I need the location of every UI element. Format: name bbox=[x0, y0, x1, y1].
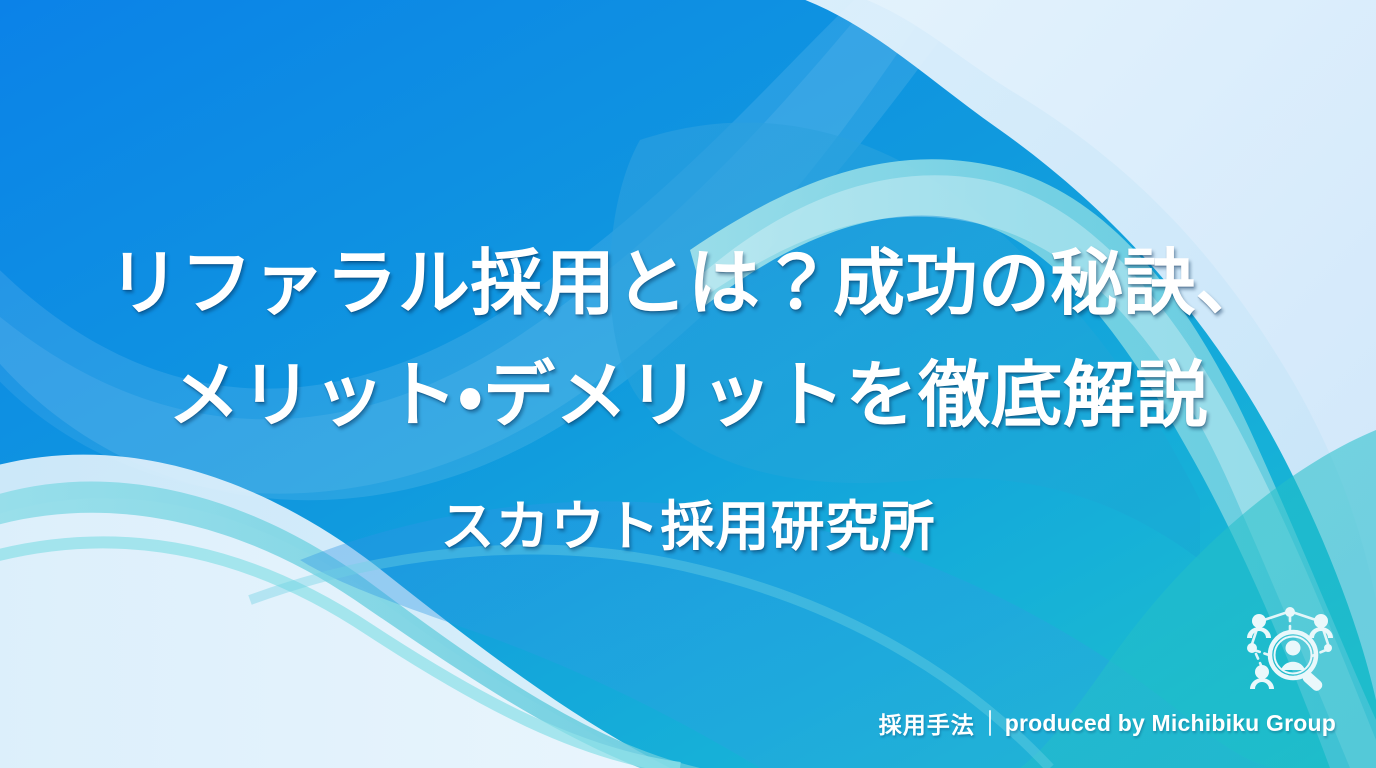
title-line-1: リファラル採用とは？成功の秘訣、 bbox=[0, 228, 1376, 340]
footer-divider bbox=[989, 710, 991, 736]
footer-credit-bar: 採用手法 produced by Michibiku Group bbox=[879, 706, 1336, 740]
subtitle: スカウト採用研究所 bbox=[0, 492, 1376, 562]
producer-credit: produced by Michibiku Group bbox=[1005, 710, 1336, 737]
people-network-search-icon bbox=[1238, 600, 1342, 696]
page-title: リファラル採用とは？成功の秘訣、 メリット・デメリットを徹底解説 bbox=[0, 228, 1376, 452]
title-line-2: メリット・デメリットを徹底解説 bbox=[0, 340, 1376, 452]
banner-content: リファラル採用とは？成功の秘訣、 メリット・デメリットを徹底解説 スカウト採用研… bbox=[0, 0, 1376, 768]
article-thumbnail-banner: リファラル採用とは？成功の秘訣、 メリット・デメリットを徹底解説 スカウト採用研… bbox=[0, 0, 1376, 768]
category-tag: 採用手法 bbox=[879, 706, 975, 740]
